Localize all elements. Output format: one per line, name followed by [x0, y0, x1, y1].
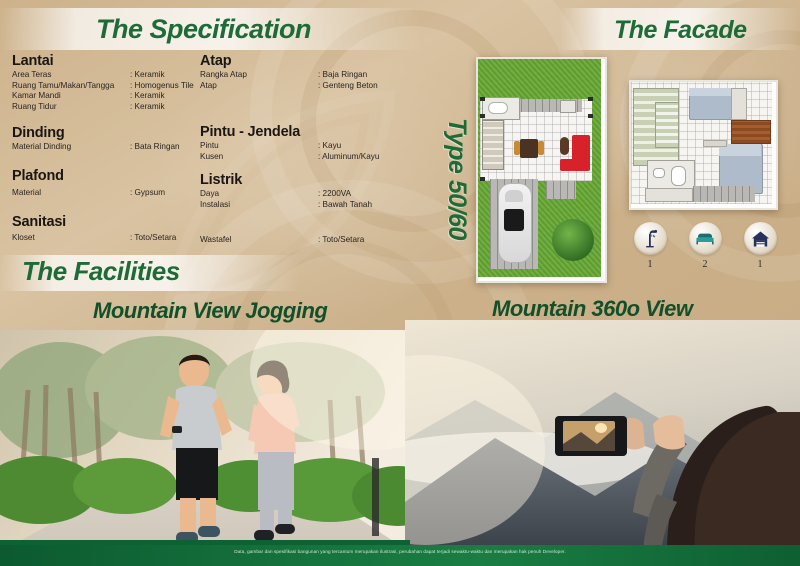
spec-row: Pintu : Kayu — [200, 141, 390, 152]
brochure-page: The Specification The Facade Lantai Area… — [0, 0, 800, 566]
bedroom-count: 2 — [685, 259, 725, 270]
house-garage-icon-glyph — [751, 230, 770, 248]
feature-bedroom: 2 — [685, 222, 725, 270]
spec-group-listrik: Listrik Daya : 2200VA Instalasi : Bawah … — [200, 172, 390, 210]
feature-bathroom: 1 — [630, 222, 670, 270]
spec-group-atap: Atap Rangka Atap : Baja Ringan Atap : Ge… — [200, 53, 390, 91]
spec-group-sanitasi: Sanitasi Kloset : Toto/Setara — [12, 214, 197, 244]
spec-row: Ruang Tidur : Keramik — [12, 102, 197, 113]
bed-icon — [689, 222, 722, 255]
mountain-view-photo — [405, 320, 800, 552]
spec-value: : Keramik — [130, 70, 197, 81]
spec-row: Instalasi : Bawah Tanah — [200, 200, 390, 211]
spec-label: Instalasi — [200, 200, 318, 211]
spec-heading: Pintu - Jendela — [200, 124, 390, 140]
spec-heading: Atap — [200, 53, 390, 69]
spec-row: Ruang Tamu/Makan/Tangga : Homogenus Tile — [12, 81, 197, 92]
spec-value: : Bata Ringan — [130, 142, 197, 153]
spec-label: Ruang Tamu/Makan/Tangga — [12, 81, 130, 92]
spec-heading: Plafond — [12, 168, 197, 184]
spec-label: Pintu — [200, 141, 318, 152]
spec-label: Kusen — [200, 152, 318, 163]
specification-right-column: Atap Rangka Atap : Baja Ringan Atap : Ge… — [200, 53, 390, 255]
spec-row: Area Teras : Keramik — [12, 70, 197, 81]
type-badge: Type 50/60 — [447, 118, 471, 238]
spec-label: Daya — [200, 189, 318, 200]
spec-value: : Homogenus Tile — [130, 81, 197, 92]
specification-left-column: Lantai Area Teras : Keramik Ruang Tamu/M… — [12, 53, 197, 253]
facility-caption-jogging: Mountain View Jogging — [93, 298, 327, 324]
spec-label: Wastafel — [200, 235, 318, 246]
jogging-photo-art — [0, 330, 410, 552]
spec-row: Daya : 2200VA — [200, 189, 390, 200]
house-garage-icon — [744, 222, 777, 255]
facility-caption-mountain: Mountain 360o View — [492, 296, 692, 322]
spec-row: Material Dinding : Bata Ringan — [12, 142, 197, 153]
spec-value: : Keramik — [130, 102, 197, 113]
spec-label: Rangka Atap — [200, 70, 318, 81]
spec-group-lantai: Lantai Area Teras : Keramik Ruang Tamu/M… — [12, 53, 197, 112]
spec-row: Kusen : Aluminum/Kayu — [200, 152, 390, 163]
spec-label: Material — [12, 188, 130, 199]
spec-value: : Toto/Setara — [318, 235, 390, 246]
page-title-facade: The Facade — [614, 16, 747, 45]
feature-icon-row: 1 2 1 — [630, 222, 780, 280]
floor-plan-upper — [629, 80, 778, 210]
spec-label: Kloset — [12, 233, 130, 244]
spec-value: : Keramik — [130, 91, 197, 102]
shower-icon-glyph — [642, 229, 659, 248]
footer-disclaimer: Data, gambar dan spesifikasi bangunan ya… — [0, 549, 800, 554]
page-title-facilities: The Facilities — [22, 256, 180, 287]
bed-icon-glyph — [695, 231, 715, 246]
mountain-photo-art — [405, 320, 800, 552]
feature-garage: 1 — [740, 222, 780, 270]
spec-value: : Aluminum/Kayu — [318, 152, 390, 163]
bathroom-count: 1 — [630, 259, 670, 270]
spec-heading: Dinding — [12, 125, 197, 141]
spec-row: Atap : Genteng Beton — [200, 81, 390, 92]
spec-group-wastafel: Wastafel : Toto/Setara — [200, 235, 390, 246]
spec-heading: Lantai — [12, 53, 197, 69]
spec-row: Kamar Mandi : Keramik — [12, 91, 197, 102]
spec-value: : Kayu — [318, 141, 390, 152]
jogging-couple-photo — [0, 330, 410, 552]
garage-count: 1 — [740, 259, 780, 270]
page-title-specification: The Specification — [96, 14, 311, 45]
spec-label: Material Dinding — [12, 142, 130, 153]
spec-value: : Gypsum — [130, 188, 197, 199]
spec-row: Kloset : Toto/Setara — [12, 233, 197, 244]
spec-value: : Bawah Tanah — [318, 200, 390, 211]
floor-plan-ground — [476, 57, 607, 283]
spec-label: Atap — [200, 81, 318, 92]
spec-value: : Baja Ringan — [318, 70, 390, 81]
spec-row: Rangka Atap : Baja Ringan — [200, 70, 390, 81]
spec-heading: Sanitasi — [12, 214, 197, 230]
spec-value: : Toto/Setara — [130, 233, 197, 244]
spec-row: Material : Gypsum — [12, 188, 197, 199]
spec-label: Area Teras — [12, 70, 130, 81]
spec-group-pintu-jendela: Pintu - Jendela Pintu : Kayu Kusen : Alu… — [200, 124, 390, 162]
spec-value: : Genteng Beton — [318, 81, 390, 92]
spec-value: : 2200VA — [318, 189, 390, 200]
shower-icon — [634, 222, 667, 255]
spec-group-dinding: Dinding Material Dinding : Bata Ringan — [12, 125, 197, 153]
spec-label: Kamar Mandi — [12, 91, 130, 102]
spec-group-plafond: Plafond Material : Gypsum — [12, 168, 197, 199]
spec-label: Ruang Tidur — [12, 102, 130, 113]
spec-row: Wastafel : Toto/Setara — [200, 235, 390, 246]
spec-heading: Listrik — [200, 172, 390, 188]
